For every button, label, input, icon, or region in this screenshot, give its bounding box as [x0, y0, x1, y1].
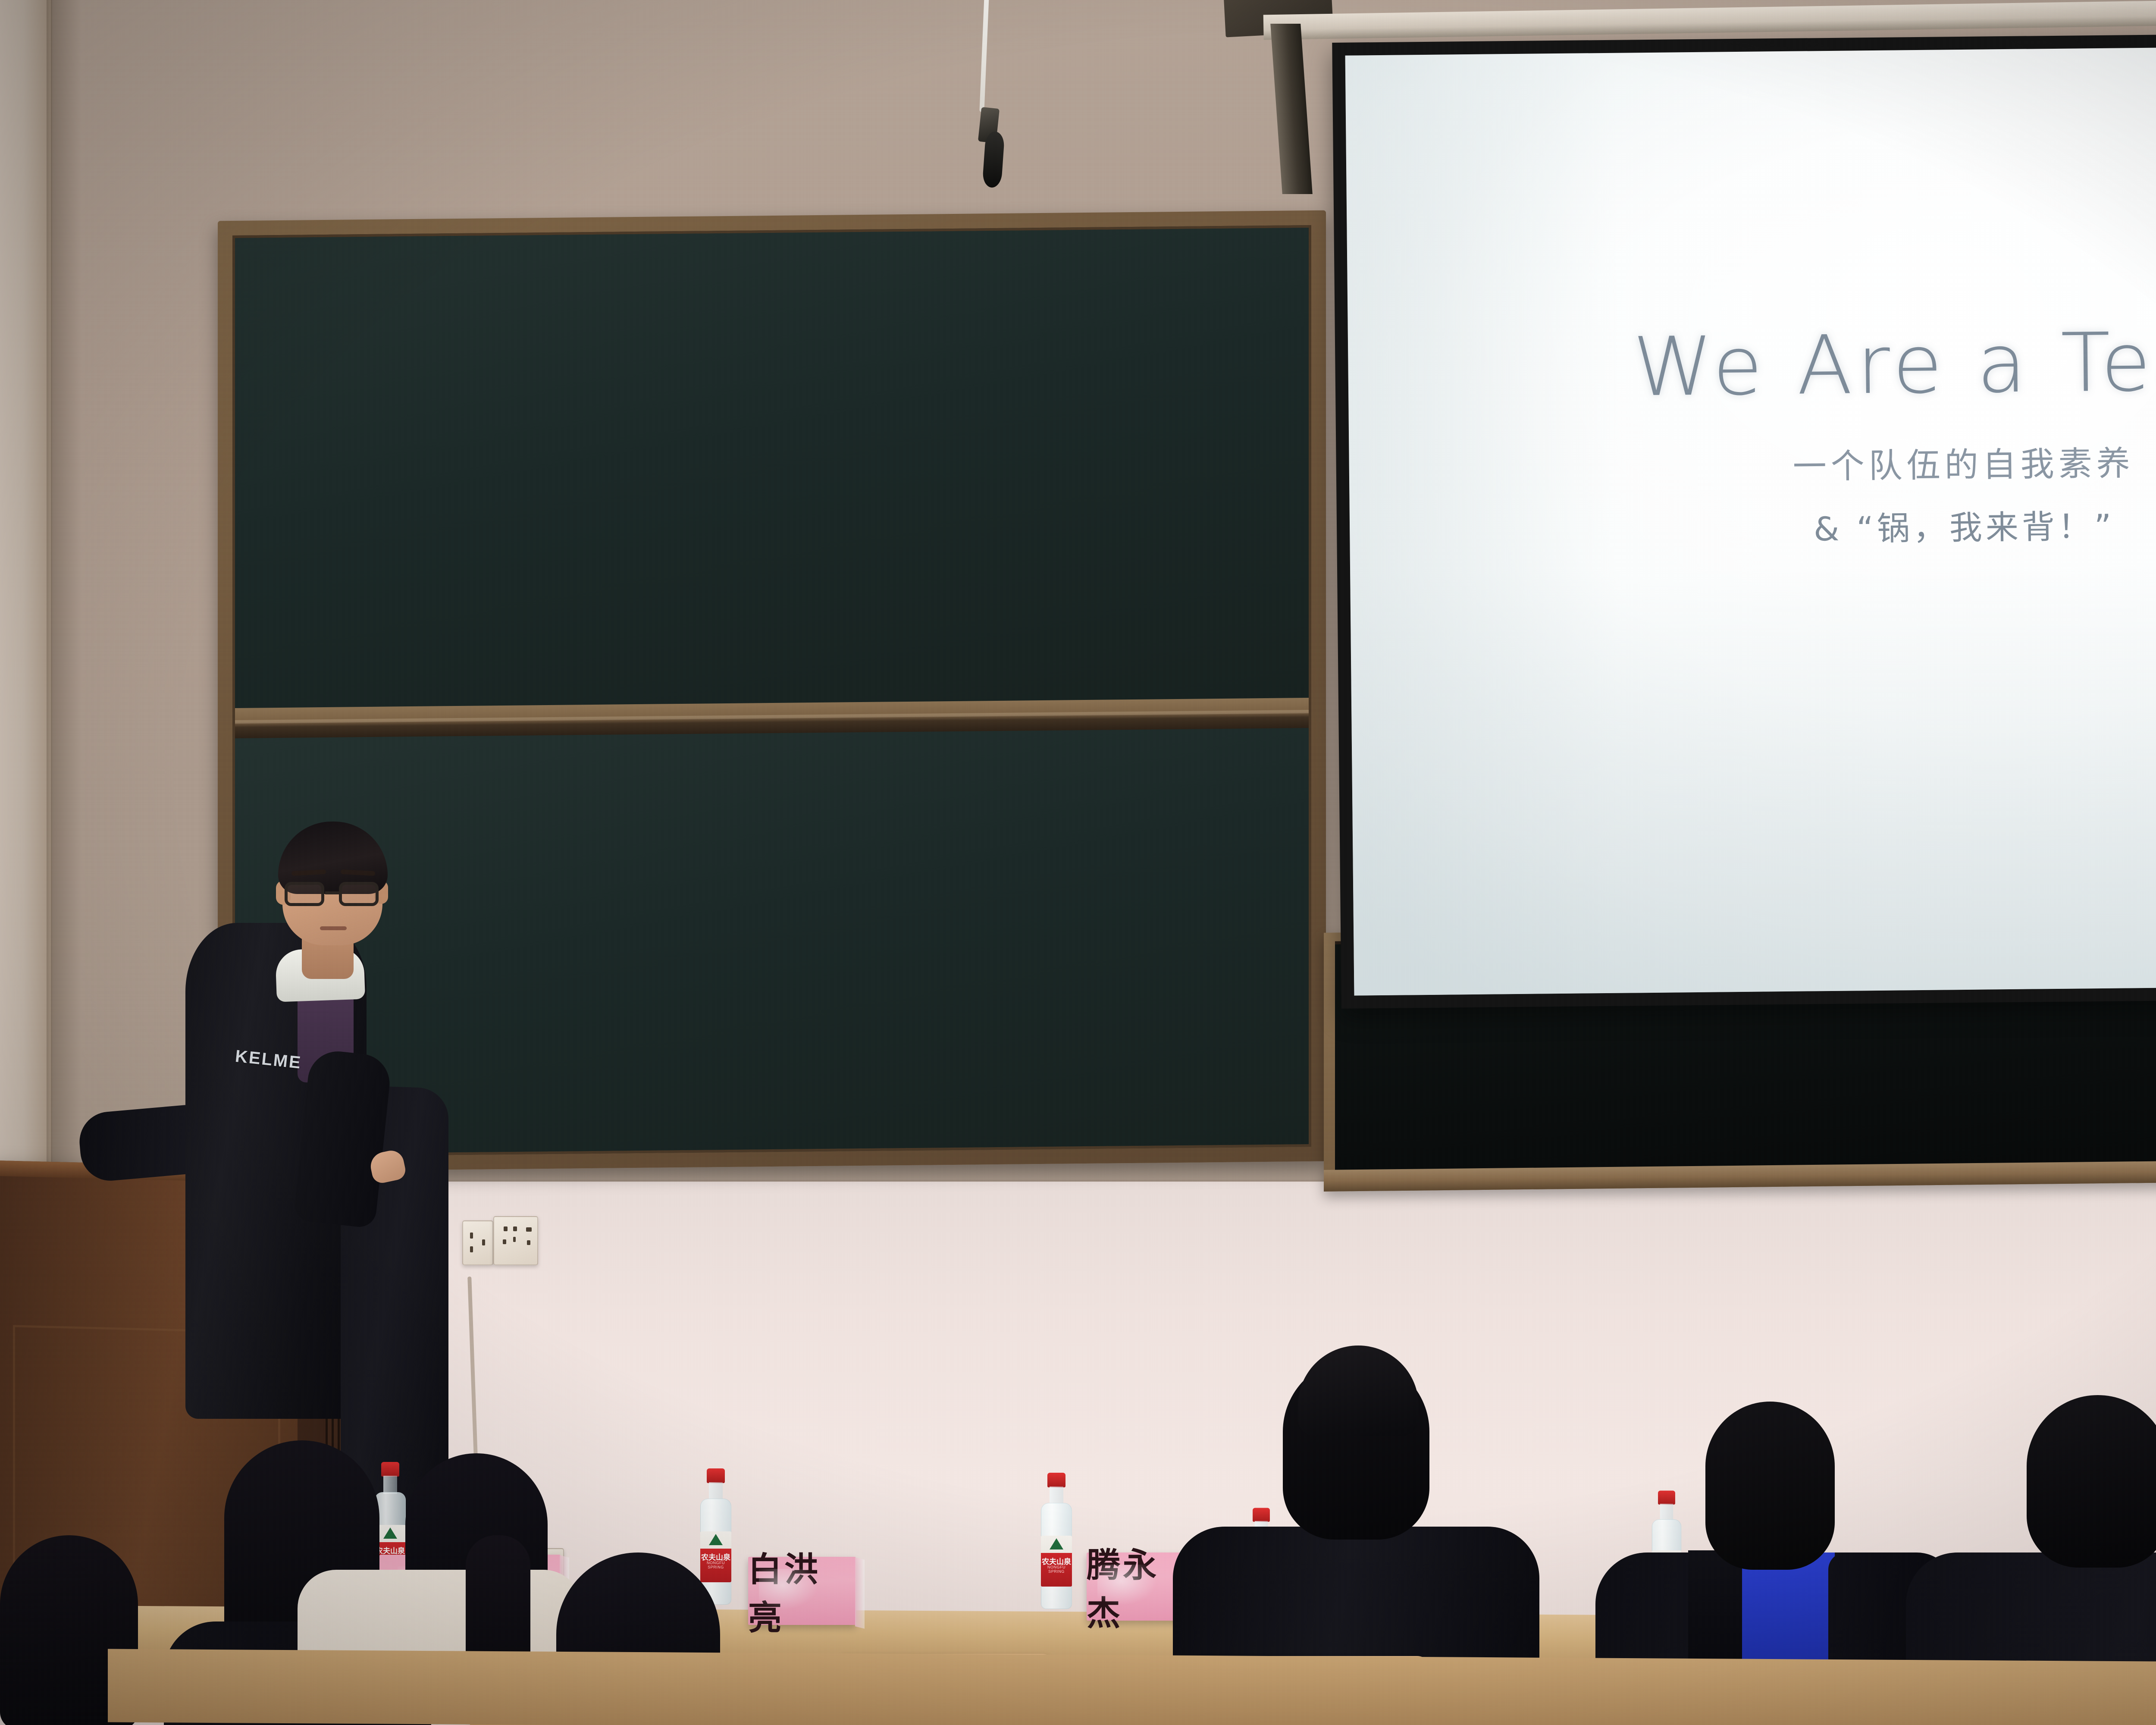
bottle-cap: [1253, 1508, 1270, 1522]
left-pillar: [0, 0, 52, 1199]
projection-screen: We Are a Team 一个队伍的自我素养 & “锅，我来背！”: [1332, 31, 2156, 1009]
socket-hole: [526, 1227, 532, 1232]
slide-subtitle-primary: 一个队伍的自我素养: [1792, 436, 2134, 488]
bottle-neck: [1050, 1487, 1063, 1505]
power-outlet-upper-left[interactable]: [462, 1220, 493, 1265]
audience-member-northface-head: [1705, 1402, 1835, 1570]
socket-hole: [470, 1246, 473, 1252]
slide-subtitle-secondary: & “锅，我来背！”: [1814, 500, 2115, 550]
bottle-cap: [381, 1462, 399, 1477]
name-placard: 白洪亮: [748, 1557, 856, 1625]
socket-hole: [513, 1226, 517, 1231]
bottle-cap: [707, 1468, 725, 1483]
bottle-label: 农夫山泉NONGFU SPRING: [1041, 1536, 1072, 1587]
mountain-icon: [383, 1527, 397, 1539]
socket-hole: [527, 1240, 530, 1245]
front-table-apron: [108, 1649, 2156, 1725]
power-outlet-upper-right[interactable]: [493, 1216, 538, 1265]
glasses-icon: [284, 882, 382, 907]
socket-hole: [470, 1233, 473, 1239]
bottle-neck: [383, 1476, 397, 1494]
socket-hole: [504, 1226, 508, 1231]
socket-hole: [503, 1239, 506, 1244]
glasses-bridge: [325, 891, 341, 894]
blackboard-frame: [218, 210, 1326, 1172]
bottle-brand-en: NONGFU SPRING: [1041, 1565, 1072, 1574]
bottle-label: 农夫山泉NONGFU SPRING: [700, 1531, 731, 1582]
bottle-brand-en: NONGFU SPRING: [700, 1561, 731, 1569]
corner-shadow: [51, 0, 81, 1199]
bottle-cap: [1047, 1473, 1065, 1487]
audience-member-far-right-head: [2027, 1395, 2156, 1568]
lecture-hall-photo: We Are a Team 一个队伍的自我素养 & “锅，我来背！” KELME: [0, 0, 2156, 1725]
bottle-cap: [1658, 1491, 1675, 1505]
glasses-lens-right: [339, 882, 379, 906]
blackboard-panel-upper: [235, 228, 1309, 710]
blackboard-surface: [232, 225, 1311, 1157]
water-bottle: 农夫山泉NONGFU SPRING: [1037, 1473, 1076, 1615]
bottle-neck: [709, 1482, 723, 1500]
socket-hole: [482, 1239, 485, 1245]
slide-content: We Are a Team 一个队伍的自我素养 & “锅，我来背！”: [1345, 44, 2156, 995]
projection-screen-surface: We Are a Team 一个队伍的自我素养 & “锅，我来背！”: [1345, 44, 2156, 995]
slide-title: We Are a Team: [1633, 314, 2156, 415]
mountain-icon: [709, 1534, 723, 1545]
socket-hole: [513, 1237, 516, 1242]
placard-name: 白洪亮: [748, 1543, 856, 1639]
bottle-neck: [1660, 1504, 1673, 1521]
mountain-icon: [1050, 1538, 1063, 1549]
presenter-mouth: [320, 926, 347, 930]
glasses-lens-left: [285, 882, 324, 906]
